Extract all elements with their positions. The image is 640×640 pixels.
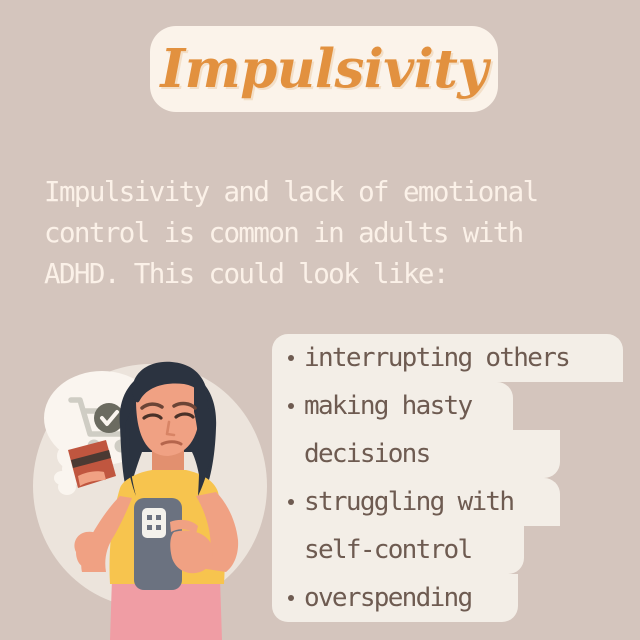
list-item: interrupting others	[272, 334, 623, 382]
page-title: Impulsivity	[160, 38, 487, 100]
list-item-label: struggling with	[304, 478, 513, 526]
title-pill: Impulsivity	[150, 26, 498, 112]
infographic-canvas: Impulsivity Impulsivity and lack of emot…	[0, 0, 640, 640]
list-item: making hasty	[272, 382, 513, 430]
list-item: overspending	[272, 574, 518, 622]
bullet-dot-icon	[288, 403, 294, 409]
bullet-dot-icon	[288, 355, 294, 361]
list-item-label: self-control	[304, 526, 471, 574]
illustration-woman-shopping	[24, 356, 276, 640]
bullet-dot-icon	[288, 499, 294, 505]
list-item-continuation: decisions	[272, 430, 560, 478]
symptom-list: interrupting others making hasty decisio…	[272, 334, 623, 622]
bullet-dot-icon	[288, 595, 294, 601]
list-item-label: overspending	[304, 574, 471, 622]
list-item-label: interrupting others	[304, 334, 569, 382]
body-paragraph: Impulsivity and lack of emotional contro…	[44, 172, 614, 295]
list-item-label: making hasty	[304, 382, 471, 430]
list-item-label: decisions	[304, 430, 430, 478]
list-item-continuation: self-control	[272, 526, 524, 574]
list-item: struggling with	[272, 478, 560, 526]
check-badge	[94, 403, 124, 433]
